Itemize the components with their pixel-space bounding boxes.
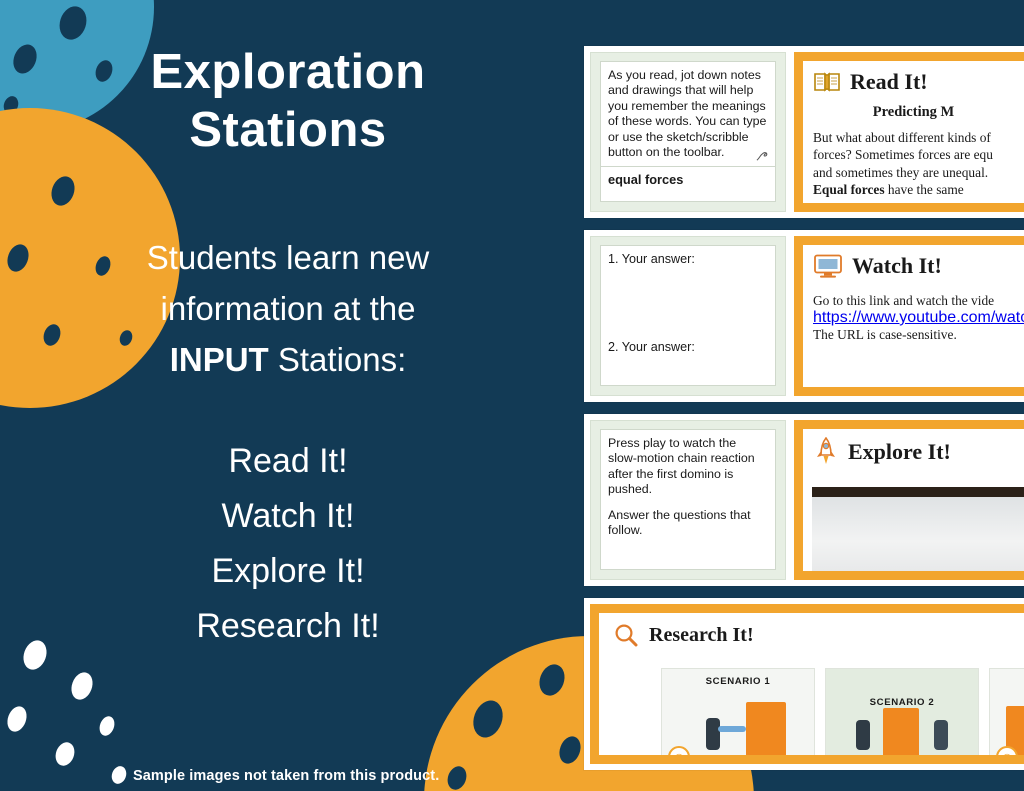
station-list-item: Research It!: [0, 599, 576, 654]
vocabulary-word: equal forces: [608, 172, 768, 188]
page-title: Exploration Stations: [0, 44, 576, 160]
slide-read-it-body-pre: But what about different kinds of forces…: [813, 130, 993, 180]
scenario-card-3: ◉: [989, 668, 1024, 764]
eye-icon[interactable]: ◉: [668, 746, 690, 764]
station-list-item: Watch It!: [0, 489, 576, 544]
slide-read-it-body-bold: Equal forces: [813, 182, 885, 197]
slide-explore-it-title: Explore It!: [848, 439, 951, 465]
mini-slide-domino-instructions: Press play to watch the slow-motion chai…: [590, 420, 786, 580]
scenario-card-1: SCENARIO 1 ◉: [661, 668, 815, 764]
slide-research-it: Research It! SCENARIO 1 ◉ SCENARIO 2: [590, 604, 1024, 764]
answer-space-1: [608, 268, 768, 340]
slide-read-it: Read It! Predicting M But what about dif…: [794, 52, 1024, 212]
scenario-card-row: SCENARIO 1 ◉ SCENARIO 2: [661, 668, 1024, 764]
domino-followup-text: Answer the questions that follow.: [608, 508, 768, 539]
slide-read-it-title: Read It!: [850, 69, 928, 95]
footnote-text: Sample images not taken from this produc…: [133, 768, 439, 784]
mini-slide-content: 1. Your answer: 2. Your answer:: [600, 245, 776, 386]
youtube-link[interactable]: https://www.youtube.com/watch: [813, 309, 1024, 326]
answer-prompt-2: 2. Your answer:: [608, 340, 768, 356]
station-list-item: Read It!: [0, 434, 576, 489]
station-list-item: Explore It!: [0, 544, 576, 599]
station-list: Read It! Watch It! Explore It! Research …: [0, 434, 576, 654]
scenario-illustration: [826, 698, 978, 764]
slide-watch-it-header: Watch It!: [813, 253, 1014, 279]
page-title-line-2: Stations: [0, 102, 576, 160]
strip-read-it: As you read, jot down notes and drawings…: [584, 46, 1024, 218]
slide-canvas: Exploration Stations Students learn new …: [0, 0, 1024, 791]
left-text-column: Exploration Stations Students learn new …: [0, 0, 576, 791]
door-shape: [746, 702, 786, 760]
slide-read-it-body-post: have the same: [885, 182, 964, 197]
slide-research-it-header: Research It!: [599, 613, 1024, 648]
slide-read-it-body: But what about different kinds of forces…: [813, 129, 1014, 199]
slide-watch-it-note: The URL is case-sensitive.: [813, 327, 1014, 343]
slide-read-it-subtitle: Predicting M: [813, 104, 1014, 121]
spacer: [608, 498, 768, 508]
computer-monitor-icon: [813, 253, 843, 279]
domino-instruction-text: Press play to watch the slow-motion chai…: [608, 436, 768, 498]
notes-instruction-text: As you read, jot down notes and drawings…: [608, 68, 766, 159]
mini-slide-answers: 1. Your answer: 2. Your answer:: [590, 236, 786, 396]
door-shape: [883, 708, 919, 760]
slide-explore-it: Explore It!: [794, 420, 1024, 580]
eye-icon[interactable]: ◉: [996, 746, 1018, 764]
subtitle-line-3-tail: Stations:: [269, 341, 407, 378]
scribble-icon: [755, 148, 771, 164]
person-shape: [706, 718, 720, 750]
slide-watch-it-inner: Watch It! Go to this link and watch the …: [803, 245, 1024, 387]
mini-slide-content: Press play to watch the slow-motion chai…: [600, 429, 776, 570]
scenario-label: SCENARIO 1: [662, 676, 814, 687]
strip-research-it: Research It! SCENARIO 1 ◉ SCENARIO 2: [584, 598, 1024, 770]
subtitle-line-1: Students learn new: [60, 232, 516, 283]
magnifying-glass-icon: [613, 622, 639, 648]
person-shape: [856, 720, 870, 750]
slide-read-it-header: Read It!: [813, 69, 1014, 95]
mini-slide-content: As you read, jot down notes and drawings…: [600, 61, 776, 202]
slide-watch-it-body: Go to this link and watch the vide: [813, 293, 1014, 309]
subtitle-line-3: INPUT Stations:: [60, 334, 516, 385]
scenario-card-2: SCENARIO 2: [825, 668, 979, 764]
strip-watch-it: 1. Your answer: 2. Your answer:: [584, 230, 1024, 402]
answer-prompt-1: 1. Your answer:: [608, 252, 768, 268]
slide-research-it-title: Research It!: [649, 624, 754, 647]
subtitle-text: Students learn new information at the IN…: [60, 232, 516, 385]
rocket-icon: [813, 437, 839, 467]
slide-read-it-inner: Read It! Predicting M But what about dif…: [803, 61, 1024, 203]
slide-watch-it: Watch It! Go to this link and watch the …: [794, 236, 1024, 396]
slide-explore-it-header: Explore It!: [813, 437, 1014, 467]
arm-shape: [718, 726, 746, 732]
simulation-photo-bar: [812, 487, 1024, 497]
slide-watch-it-title: Watch It!: [852, 253, 942, 279]
strip-explore-it: Press play to watch the slow-motion chai…: [584, 414, 1024, 586]
slide-explore-it-inner: Explore It!: [803, 429, 1024, 571]
person-shape: [934, 720, 948, 750]
notes-instruction-block: As you read, jot down notes and drawings…: [601, 62, 775, 167]
page-title-line-1: Exploration: [0, 44, 576, 102]
mini-slide-notes: As you read, jot down notes and drawings…: [590, 52, 786, 212]
subtitle-emphasis: INPUT: [170, 341, 269, 378]
open-book-icon: [813, 70, 841, 94]
simulation-photo: [812, 497, 1024, 571]
subtitle-line-2: information at the: [60, 283, 516, 334]
